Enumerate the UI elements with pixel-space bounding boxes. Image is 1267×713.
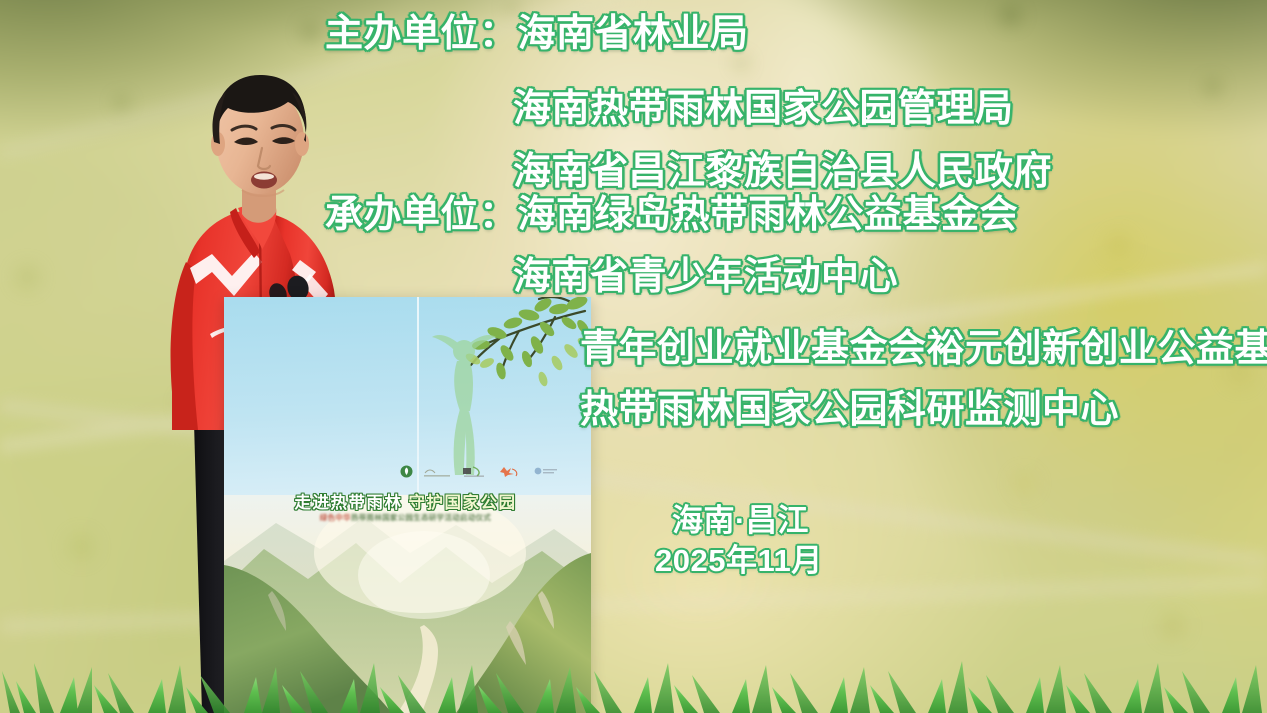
lectern-mountain-scene (224, 495, 591, 713)
lectern-sponsor-logos (400, 465, 559, 478)
screenshot-root: 走进热带雨林 守护国家公园 绿色中华热带雨林国家公园生态研学活动启动仪式 (0, 0, 1267, 713)
lectern-subtitle-rest: 热带雨林国家公园生态研学活动启动仪式 (351, 513, 491, 522)
lectern-slogan-part1: 走进热带雨林 (294, 494, 402, 512)
sponsor-logo-2 (422, 466, 452, 478)
lectern-subtitle-quoted: 绿色中华 (320, 513, 351, 522)
sponsor-logo-3 (461, 465, 489, 478)
sponsor-logo-1 (400, 465, 413, 478)
lectern-slogan-part2: 守护国家公园 (409, 494, 517, 512)
lectern-slogan: 走进热带雨林 守护国家公园 (224, 489, 587, 513)
lectern: 走进热带雨林 守护国家公园 绿色中华热带雨林国家公园生态研学活动启动仪式 (224, 297, 591, 713)
sponsor-logo-4 (498, 465, 524, 478)
lectern-subtitle: 绿色中华热带雨林国家公园生态研学活动启动仪式 (224, 512, 587, 523)
sponsor-logo-5 (533, 466, 559, 478)
lectern-figure-silhouette (424, 335, 504, 485)
